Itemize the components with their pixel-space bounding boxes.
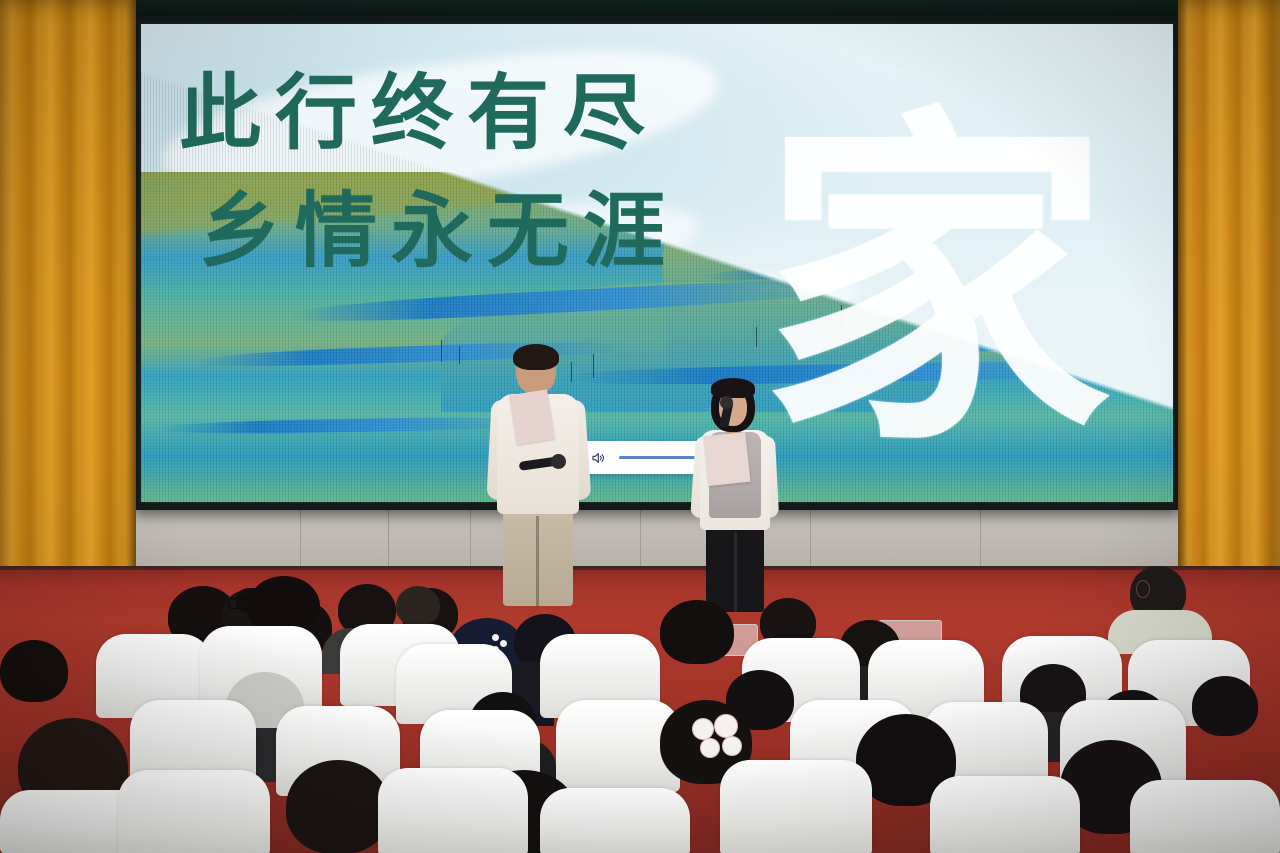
cap-logo-dot bbox=[492, 634, 499, 641]
headline-line-2: 乡情永无涯 bbox=[199, 172, 679, 290]
audience-head bbox=[660, 600, 734, 664]
watermark-character: 家 bbox=[721, 92, 1151, 492]
wall-seam bbox=[810, 500, 811, 572]
wall-seam bbox=[300, 500, 301, 572]
female-host-trouser-seam bbox=[734, 532, 737, 612]
hair-clip bbox=[714, 714, 738, 738]
female-host-script-paper bbox=[704, 432, 751, 486]
audience-head bbox=[1192, 676, 1258, 736]
audience-head bbox=[396, 586, 440, 626]
headline-line-1: 此行终有尽 bbox=[179, 54, 679, 172]
audience-chair bbox=[378, 768, 528, 853]
cap-logo-dot bbox=[500, 640, 507, 647]
male-host-microphone-head bbox=[551, 454, 566, 469]
audience-chair bbox=[720, 760, 872, 853]
male-host-hair bbox=[513, 344, 559, 370]
wall-seam bbox=[640, 500, 641, 572]
wall-seam bbox=[980, 500, 981, 572]
audience-chair bbox=[540, 788, 690, 853]
hair-clip bbox=[692, 718, 714, 740]
wall-seam bbox=[470, 500, 471, 572]
audience-chair bbox=[1130, 780, 1280, 853]
screenshot-root: 家 此行终有尽 乡情永无涯 bbox=[0, 0, 1280, 853]
male-host-script-paper bbox=[509, 389, 554, 444]
audience-head bbox=[286, 760, 390, 853]
hair-clip bbox=[700, 738, 720, 758]
wall-panel-below-screen bbox=[110, 500, 1180, 572]
audience-head bbox=[0, 640, 68, 702]
audience-chair bbox=[930, 776, 1080, 853]
speaker-volume-icon[interactable] bbox=[591, 450, 607, 466]
led-screen: 家 此行终有尽 乡情永无涯 bbox=[141, 24, 1173, 502]
female-host-microphone-head bbox=[720, 396, 733, 409]
stage-curtain-right bbox=[1178, 0, 1280, 600]
stage-curtain-left bbox=[0, 0, 136, 600]
slide-headline: 此行终有尽 乡情永无涯 bbox=[179, 54, 679, 290]
female-host-fringe bbox=[711, 378, 755, 398]
hair-bun bbox=[1136, 580, 1150, 598]
male-host-trouser-seam bbox=[536, 516, 539, 606]
audience-chair bbox=[118, 770, 270, 853]
hair-clip bbox=[722, 736, 742, 756]
